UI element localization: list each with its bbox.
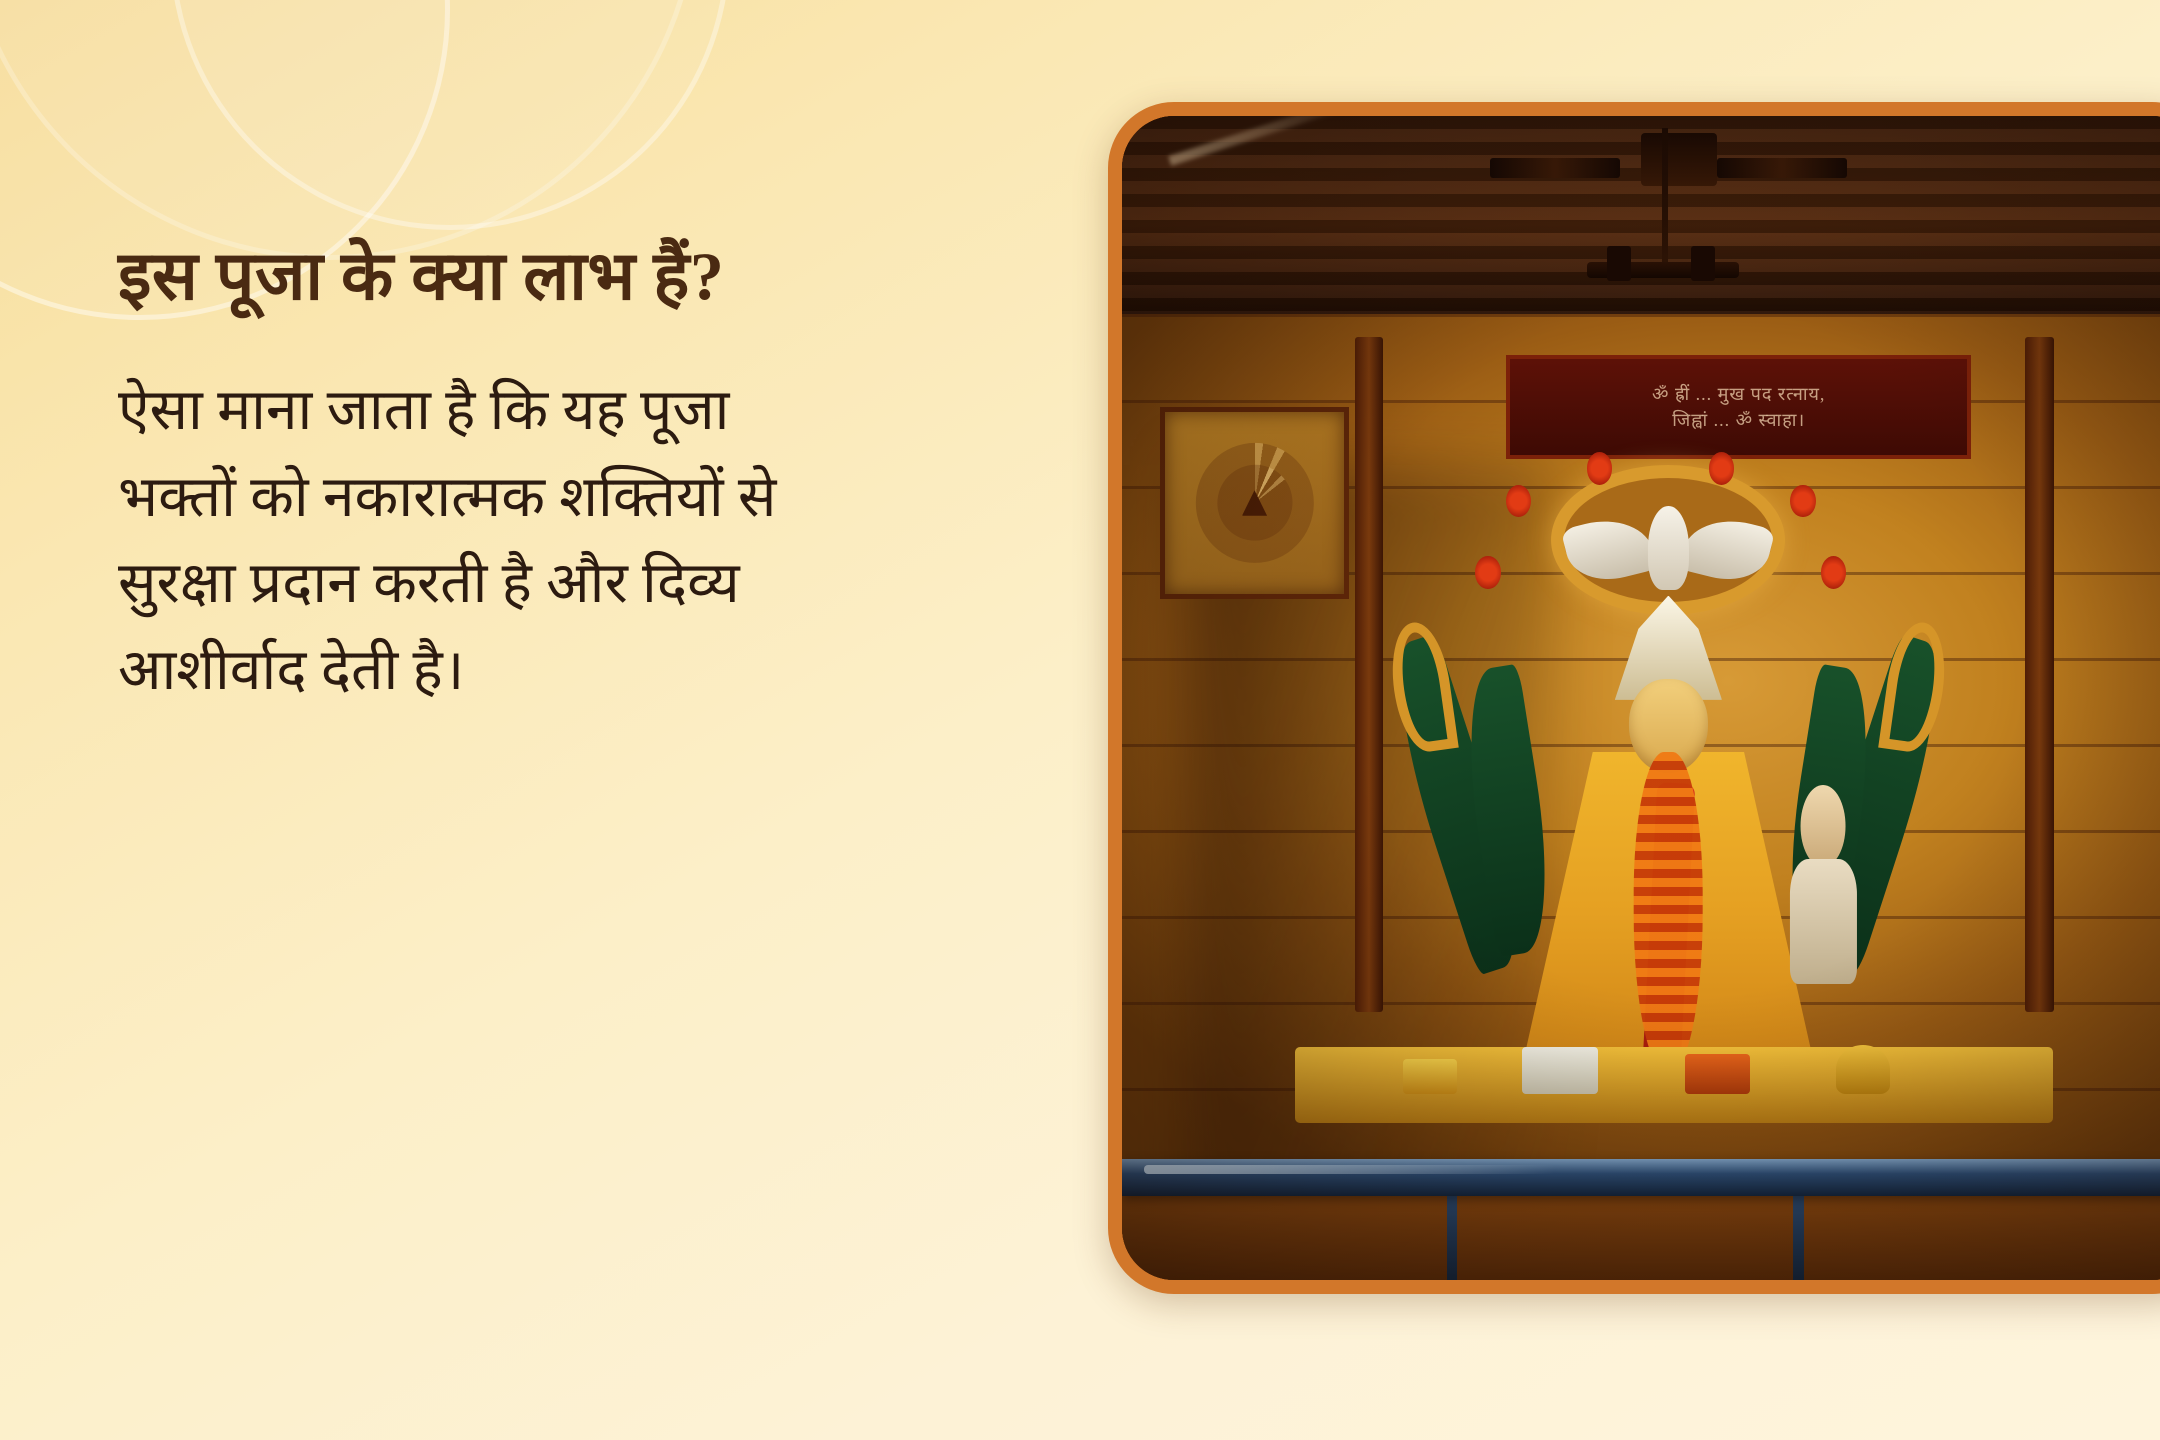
halo-flower-1 xyxy=(1506,485,1531,518)
ceiling-light-glare xyxy=(1169,116,1357,166)
body-line-1: ऐसा माना जाता है कि यह पूजा xyxy=(118,368,1078,455)
blue-metal-railing xyxy=(1122,1159,2160,1196)
temple-photo: ॐ ह्रीं ... मुख पद रत्नाय, जिह्वां ... ॐ… xyxy=(1122,116,2160,1280)
attendant-body xyxy=(1790,859,1856,984)
ceiling-fan-blade-right xyxy=(1717,158,1847,178)
halo-flower-6 xyxy=(1821,556,1846,589)
rail-post-2 xyxy=(1793,1187,1804,1280)
offering-item-3 xyxy=(1685,1054,1750,1094)
railing-highlight xyxy=(1144,1165,1555,1174)
body-line-2: भक्तों को नकारात्मक शक्तियों से xyxy=(118,455,1078,542)
lower-shelf xyxy=(1122,1187,2160,1280)
plaque-line-1: ॐ ह्रीं ... मुख पद रत्नाय, xyxy=(1652,382,1825,406)
page-title: इस पूजा के क्या लाभ हैं? xyxy=(118,238,1078,314)
halo-flower-4 xyxy=(1790,485,1815,518)
plaque-line-2: जिह्वां ... ॐ स्वाहा। xyxy=(1672,408,1805,432)
swan-body xyxy=(1648,506,1689,590)
ceiling-fan-hub xyxy=(1641,133,1717,185)
slide-canvas: इस पूजा के क्या लाभ हैं? ऐसा माना जाता ह… xyxy=(0,0,2160,1440)
decor-circle-2 xyxy=(170,0,730,230)
marigold-garland xyxy=(1634,752,1703,1075)
attendant-figure xyxy=(1790,785,1856,981)
offering-item-1 xyxy=(1403,1059,1457,1094)
deity-idol xyxy=(1511,596,1826,1117)
bell-hanging-rod xyxy=(1662,128,1668,268)
body-paragraph: ऐसा माना जाता है कि यह पूजा भक्तों को नक… xyxy=(118,368,1078,715)
swan-wing-right xyxy=(1679,510,1777,589)
body-line-3: सुरक्षा प्रदान करती है और दिव्य xyxy=(118,541,1078,628)
temple-photo-card: ॐ ह्रीं ... मुख पद रत्नाय, जिह्वां ... ॐ… xyxy=(1108,102,2160,1294)
halo-flower-5 xyxy=(1475,556,1500,589)
pilaster-left xyxy=(1355,337,1383,1012)
offering-kalash xyxy=(1836,1045,1890,1094)
pilaster-right xyxy=(2025,337,2053,1012)
decor-circle-3 xyxy=(0,0,700,260)
halo-flower-3 xyxy=(1709,452,1734,485)
swan-wing-left xyxy=(1561,510,1659,589)
rail-post-1 xyxy=(1447,1187,1458,1280)
swan-hamsa-emblem xyxy=(1567,498,1770,596)
attendant-head xyxy=(1801,785,1846,867)
body-line-4: आशीर्वाद देती है। xyxy=(118,628,1078,715)
temple-bell-right xyxy=(1667,272,1738,391)
text-column: इस पूजा के क्या लाभ हैं? ऐसा माना जाता ह… xyxy=(118,238,1078,715)
mantra-plaque: ॐ ह्रीं ... मुख पद रत्नाय, जिह्वां ... ॐ… xyxy=(1506,355,1971,460)
halo-flower-2 xyxy=(1587,452,1612,485)
deity-alcove xyxy=(1414,465,1923,1117)
offering-item-2 xyxy=(1522,1047,1598,1094)
ceiling-fan-blade-left xyxy=(1490,158,1620,178)
sri-yantra-carving xyxy=(1160,407,1349,599)
